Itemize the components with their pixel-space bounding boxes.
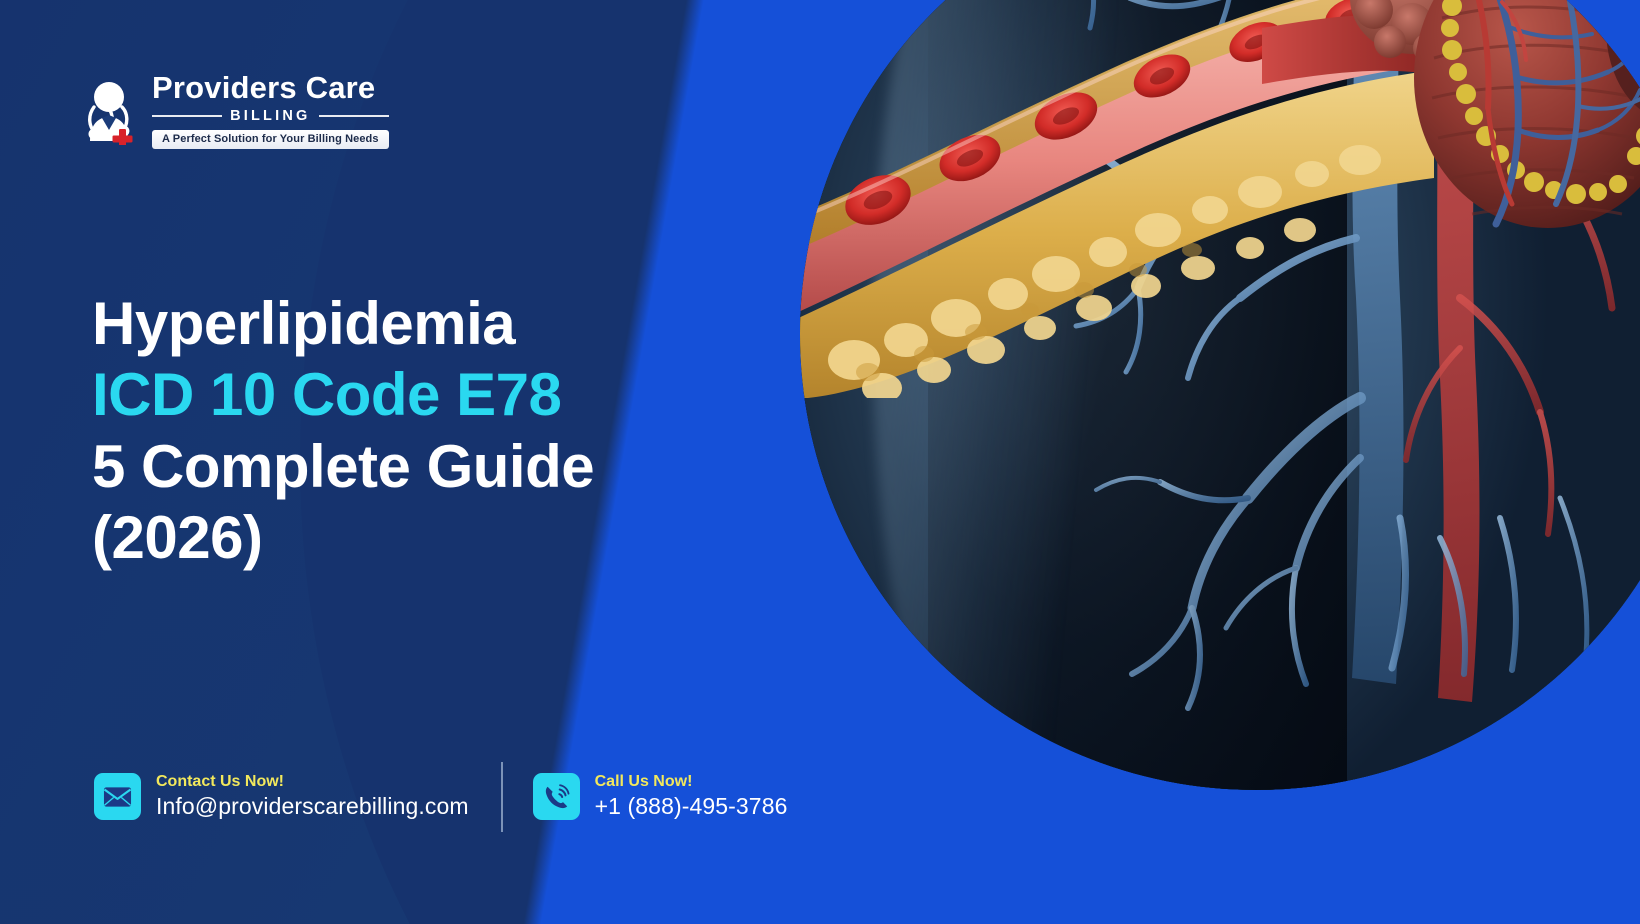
doctor-avatar-icon bbox=[78, 77, 140, 145]
headline-line-2: ICD 10 Code E78 bbox=[92, 359, 732, 430]
logo-sub: BILLING bbox=[230, 108, 310, 124]
logo-sub-row: BILLING bbox=[152, 108, 389, 124]
logo-rule-right bbox=[319, 115, 389, 117]
contact-email-block[interactable]: Contact Us Now! Info@providerscarebillin… bbox=[94, 772, 469, 822]
contact-phone-label: Call Us Now! bbox=[595, 772, 788, 792]
medical-illustration-circle bbox=[800, 0, 1640, 790]
headline-line-3: 5 Complete Guide bbox=[92, 431, 732, 502]
contact-email-label: Contact Us Now! bbox=[156, 772, 469, 792]
contact-bar: Contact Us Now! Info@providerscarebillin… bbox=[94, 762, 787, 832]
contact-phone-value[interactable]: +1 (888)-495-3786 bbox=[595, 792, 788, 822]
promo-banner: Providers Care BILLING A Perfect Solutio… bbox=[0, 0, 1640, 924]
headline-line-1: Hyperlipidemia bbox=[92, 288, 732, 359]
page-title: Hyperlipidemia ICD 10 Code E78 5 Complet… bbox=[92, 288, 732, 574]
logo-tagline: A Perfect Solution for Your Billing Need… bbox=[152, 130, 389, 149]
logo-rule-left bbox=[152, 115, 222, 117]
contact-email-value[interactable]: Info@providerscarebilling.com bbox=[156, 792, 469, 822]
logo-name: Providers Care bbox=[152, 72, 389, 103]
contact-divider bbox=[501, 762, 503, 832]
heart-illustration-icon bbox=[1262, 0, 1640, 278]
brand-logo[interactable]: Providers Care BILLING A Perfect Solutio… bbox=[78, 72, 389, 149]
phone-call-icon bbox=[533, 773, 580, 820]
contact-phone-block[interactable]: Call Us Now! +1 (888)-495-3786 bbox=[533, 772, 788, 822]
headline-line-4: (2026) bbox=[92, 502, 732, 573]
envelope-icon bbox=[94, 773, 141, 820]
